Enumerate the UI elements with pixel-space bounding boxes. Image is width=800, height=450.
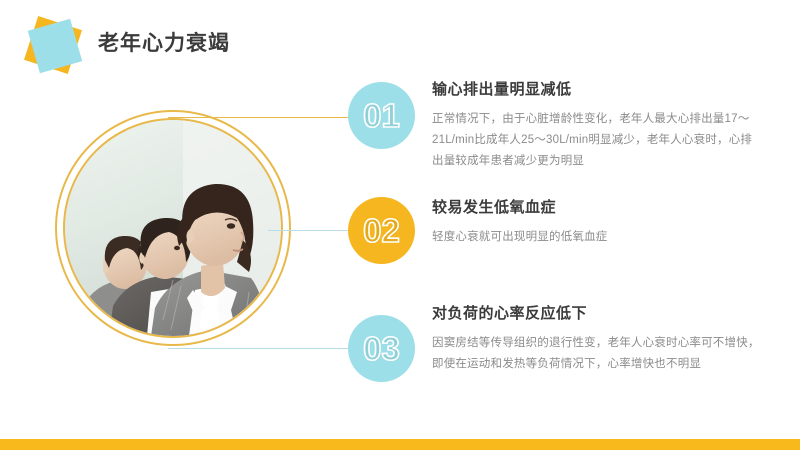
number-badge-01[interactable]: 01 — [348, 82, 415, 149]
number-badge-02[interactable]: 02 — [348, 197, 415, 264]
number-badge-01-label: 01 — [363, 99, 400, 132]
connector-line-3 — [168, 348, 352, 349]
photo-circle — [55, 110, 295, 350]
bottom-accent-bar — [0, 439, 800, 450]
connector-line-1 — [168, 117, 350, 118]
content-block-1-body: 正常情况下，由于心脏增龄性变化，老年人最大心排出量17～21L/min比成年人2… — [432, 109, 762, 172]
content-block-3-body: 因窦房结等传导组织的退行性变，老年人心衰时心率可不增快，即使在运动和发热等负荷情… — [432, 333, 762, 375]
content-block-3: 对负荷的心率反应低下 因窦房结等传导组织的退行性变，老年人心衰时心率可不增快，即… — [432, 304, 762, 375]
content-block-1: 输心排出量明显减低 正常情况下，由于心脏增龄性变化，老年人最大心排出量17～21… — [432, 80, 762, 172]
content-block-3-heading: 对负荷的心率反应低下 — [432, 304, 762, 324]
photo-ring-inner — [63, 118, 283, 338]
page-title: 老年心力衰竭 — [98, 30, 230, 58]
connector-line-2 — [268, 230, 352, 231]
number-badge-03[interactable]: 03 — [348, 315, 415, 382]
photo-image — [65, 120, 281, 336]
content-block-2-heading: 较易发生低氧血症 — [432, 198, 762, 218]
rotated-squares-logo-icon — [22, 14, 88, 80]
content-block-1-heading: 输心排出量明显减低 — [432, 80, 762, 100]
content-block-2-body: 轻度心衰就可出现明显的低氧血症 — [432, 227, 762, 248]
number-badge-02-label: 02 — [363, 214, 400, 247]
number-badge-03-label: 03 — [363, 332, 400, 365]
slide-canvas: 老年心力衰竭 — [0, 0, 800, 450]
content-block-2: 较易发生低氧血症 轻度心衰就可出现明显的低氧血症 — [432, 198, 762, 248]
